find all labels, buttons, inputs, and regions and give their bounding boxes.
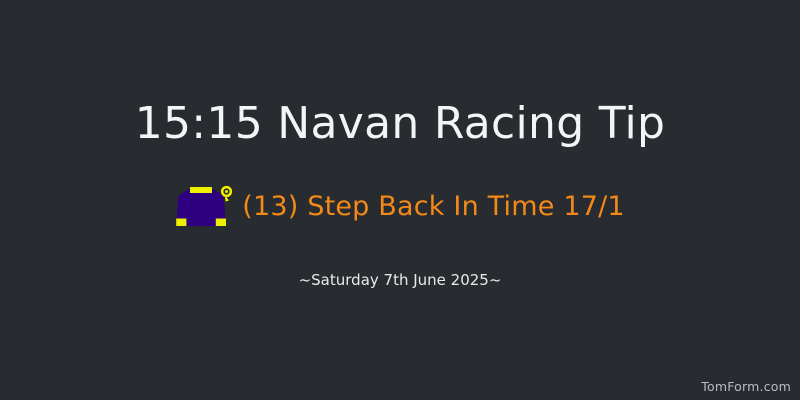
tip-selection-text: (13) Step Back In Time 17/1 xyxy=(242,190,625,224)
watermark: TomForm.com xyxy=(701,379,791,395)
tip-row-inner: (13) Step Back In Time 17/1 xyxy=(175,182,625,232)
tip-row: (13) Step Back In Time 17/1 xyxy=(0,182,800,236)
page-title: 15:15 Navan Racing Tip xyxy=(0,96,800,152)
date-row: ~Saturday 7th June 2025~ xyxy=(0,270,800,290)
racing-tip-card: 15:15 Navan Racing Tip xyxy=(0,0,800,400)
jockey-silk-icon xyxy=(175,182,233,232)
page-title-text: 15:15 Navan Racing Tip xyxy=(135,96,666,152)
date-text: ~Saturday 7th June 2025~ xyxy=(299,271,502,289)
